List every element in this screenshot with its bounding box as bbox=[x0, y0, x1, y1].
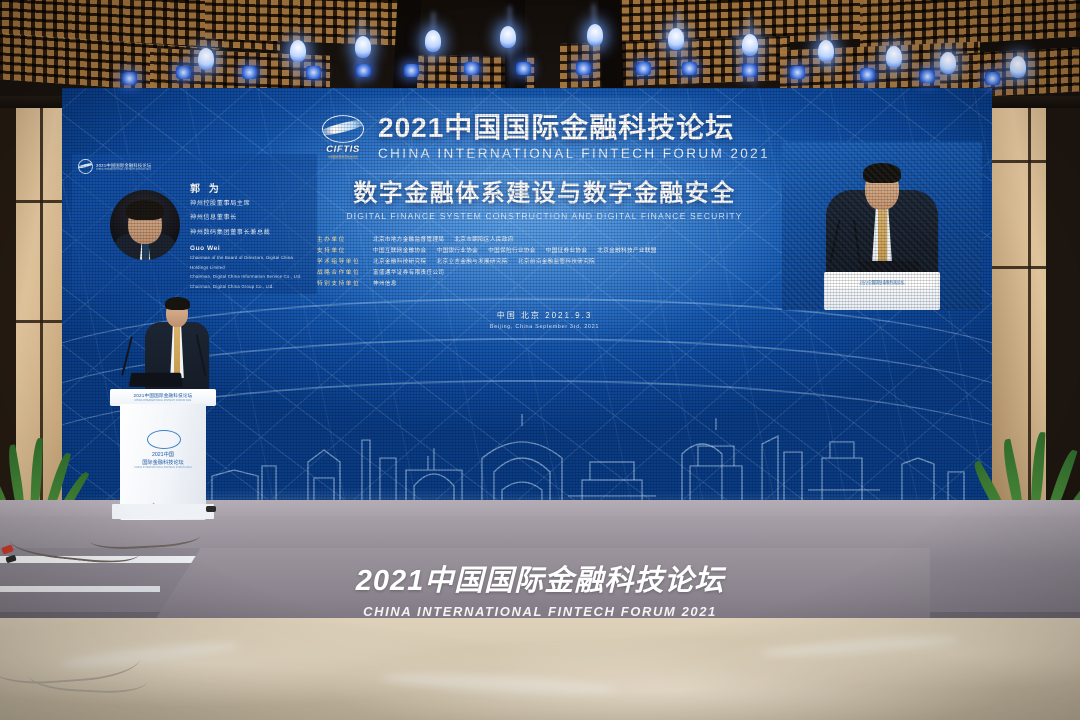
moving-head-light bbox=[587, 24, 603, 46]
feed-microphone bbox=[830, 220, 841, 261]
par-can-light bbox=[404, 64, 419, 77]
par-can-light bbox=[636, 62, 651, 75]
moving-head-light bbox=[500, 26, 516, 48]
organizer-value: 中国证券业协会 bbox=[546, 248, 588, 254]
speaker-name-en: Guo Wei bbox=[190, 245, 311, 252]
cable-connector bbox=[206, 506, 216, 512]
speaker-role-cn-1: 神州控股董事局主席 bbox=[190, 198, 311, 209]
speaker-role-en-2: Holdings Limited bbox=[190, 264, 311, 272]
organizer-list: 主办单位 北京市地方金融监督管理局北京市朝阳区人民政府 支持单位 中国互联网金融… bbox=[317, 235, 772, 290]
par-can-light bbox=[742, 64, 757, 77]
organizer-value: 北京前沿金融监管科技研究院 bbox=[518, 259, 595, 265]
banner-title-cn: 2021中国国际金融科技论坛 bbox=[356, 557, 725, 599]
organizer-values: 神州信息 bbox=[373, 279, 407, 290]
moving-head-light bbox=[290, 40, 306, 62]
par-can-light bbox=[860, 68, 875, 81]
organizer-label: 特别支持单位 bbox=[317, 279, 373, 290]
organizer-row: 主办单位 北京市地方金融监督管理局北京市朝阳区人民政府 bbox=[317, 235, 772, 246]
feed-microphone bbox=[853, 220, 861, 264]
ciftis-logo: CIFTIS 中国国际服务贸易交易会 bbox=[317, 112, 369, 162]
organizer-row: 学术指导单位 北京金融科技研究院北京立言金融与发展研究院北京前沿金融监管科技研究… bbox=[317, 257, 772, 268]
feed-podium-sign: 2021中国国际金融科技论坛 CHINA INTERNATIONAL FINTE… bbox=[830, 276, 934, 288]
par-can-light bbox=[920, 70, 935, 83]
venue-floor bbox=[0, 618, 1080, 720]
divider bbox=[317, 173, 772, 174]
feed-laptop bbox=[858, 261, 921, 274]
podium-front-en: CHINA INTERNATIONAL FINTECH FORUM 2021 bbox=[120, 466, 206, 469]
organizer-row: 战略合作单位 富盛通华证券有限责任公司 bbox=[317, 268, 772, 279]
par-can-light bbox=[306, 66, 321, 79]
podium-laptop bbox=[129, 373, 183, 387]
floor-vein bbox=[380, 670, 621, 699]
speaker-info-card: 2021中国国际金融科技论坛 CHINA INTERNATIONAL FINTE… bbox=[72, 154, 317, 294]
podium-base bbox=[112, 504, 214, 519]
organizer-value: 北京金融科技产业联盟 bbox=[597, 248, 656, 254]
organizer-label: 支持单位 bbox=[317, 246, 373, 257]
podium-ciftis-icon bbox=[147, 430, 181, 449]
conference-stage-photo: 2021中国国际金融科技论坛 CHINA INTERNATIONAL FINTE… bbox=[0, 0, 1080, 720]
podium-plate-cn: 2021中国国际金融科技论坛 bbox=[134, 393, 193, 399]
title-header: CIFTIS 中国国际服务贸易交易会 2021中国国际金融科技论坛 CHINA … bbox=[317, 112, 772, 162]
podium-front-cn-line1: 2021中国 bbox=[152, 452, 174, 458]
moving-head-light bbox=[355, 36, 371, 58]
organizer-value: 富盛通华证券有限责任公司 bbox=[373, 270, 444, 276]
organizer-row: 特别支持单位 神州信息 bbox=[317, 279, 772, 290]
par-can-light bbox=[122, 72, 137, 85]
banner-title-en: CHINA INTERNATIONAL FINTECH FORUM 2021 bbox=[363, 604, 717, 619]
speaker-role-cn-3: 神州数码集团董事长兼总裁 bbox=[190, 227, 311, 238]
organizer-label: 学术指导单位 bbox=[317, 257, 373, 268]
organizer-value: 中国保险行业协会 bbox=[488, 248, 536, 254]
stage-led-strip bbox=[0, 586, 160, 592]
organizer-label: 战略合作单位 bbox=[317, 268, 373, 279]
par-can-light bbox=[176, 66, 191, 79]
speaker-role-en-4: Chairman, Digital China Group Co., Ltd. bbox=[190, 283, 311, 291]
ciftis-icon bbox=[78, 159, 93, 174]
ceiling-beam bbox=[598, 0, 623, 94]
organizer-value: 北京立言金融与发展研究院 bbox=[437, 259, 508, 265]
par-can-light bbox=[464, 62, 479, 75]
speaker-role-cn-2: 神州信息董事长 bbox=[190, 212, 311, 223]
par-can-light bbox=[356, 64, 371, 77]
moving-head-light bbox=[668, 28, 684, 50]
event-when: 中国 北京 2021.9.3 Beijing, China September … bbox=[317, 310, 772, 330]
organizer-values: 中国互联网金融协会中国银行业协会中国保险行业协会中国证券业协会北京金融科技产业联… bbox=[373, 246, 667, 257]
speaker-portrait-avatar bbox=[110, 190, 180, 260]
card-badge: 2021中国国际金融科技论坛 CHINA INTERNATIONAL FINTE… bbox=[78, 159, 151, 174]
event-when-cn: 中国 北京 2021.9.3 bbox=[317, 310, 772, 321]
ceiling-lattice-panel bbox=[205, 0, 405, 45]
feed-speaker-lanyard bbox=[878, 208, 887, 270]
speaker-hair bbox=[165, 297, 190, 310]
organizer-label: 主办单位 bbox=[317, 235, 373, 246]
moving-head-light bbox=[940, 52, 956, 74]
speaker-name-cn: 郭 为 bbox=[190, 180, 311, 195]
moving-head-light bbox=[1010, 56, 1026, 78]
moving-head-light bbox=[886, 46, 902, 68]
speaker-lanyard bbox=[174, 326, 180, 376]
stage-front-banner: 2021中国国际金融科技论坛 CHINA INTERNATIONAL FINTE… bbox=[150, 548, 930, 628]
podium: 2021中国 国际金融科技论坛 CHINA INTERNATIONAL FINT… bbox=[120, 404, 206, 520]
podium-front-cn-line2: 国际金融科技论坛 bbox=[142, 460, 184, 466]
moving-head-light bbox=[198, 48, 214, 70]
avatar-tie bbox=[142, 242, 149, 260]
par-can-light bbox=[576, 62, 591, 75]
live-camera-feed: 2021中国国际金融科技论坛 CHINA INTERNATIONAL FINTE… bbox=[782, 142, 982, 310]
feed-podium-sign-cn: 2021中国国际金融科技论坛 bbox=[860, 279, 904, 284]
feed-speaker-head bbox=[865, 168, 899, 210]
speaker-details: 郭 为 神州控股董事局主席 神州信息董事长 神州数码集团董事长兼总裁 Guo W… bbox=[190, 180, 311, 290]
avatar-hair bbox=[126, 200, 164, 220]
forum-title-en: CHINA INTERNATIONAL FINTECH FORUM 2021 bbox=[378, 147, 770, 161]
ciftis-tagline-cn: 中国国际服务贸易交易会 bbox=[328, 156, 358, 160]
moving-head-light bbox=[818, 40, 834, 62]
organizer-value: 北京市朝阳区人民政府 bbox=[454, 237, 513, 243]
organizer-row: 支持单位 中国互联网金融协会中国银行业协会中国保险行业协会中国证券业协会北京金融… bbox=[317, 246, 772, 257]
forum-subtitle-en: DIGITAL FINANCE SYSTEM CONSTRUCTION AND … bbox=[317, 211, 772, 221]
speaker-role-en-3: Chairman, Digital China Information Serv… bbox=[190, 273, 311, 281]
floor-vein bbox=[760, 633, 960, 660]
par-can-light bbox=[790, 66, 805, 79]
forum-subtitle-cn: 数字金融体系建设与数字金融安全 bbox=[317, 182, 772, 206]
organizer-values: 富盛通华证券有限责任公司 bbox=[373, 268, 454, 279]
feed-speaker-hair bbox=[863, 163, 901, 183]
feed-speaker-shirt bbox=[865, 206, 899, 276]
screen-content: CIFTIS 中国国际服务贸易交易会 2021中国国际金融科技论坛 CHINA … bbox=[317, 112, 772, 330]
moving-head-light bbox=[742, 34, 758, 56]
moving-head-light bbox=[425, 30, 441, 52]
feed-podium bbox=[824, 272, 940, 310]
organizer-value: 北京市地方金融监督管理局 bbox=[373, 237, 444, 243]
par-can-light bbox=[242, 66, 257, 79]
forum-title-cn: 2021中国国际金融科技论坛 bbox=[378, 114, 770, 142]
podium-plate-en: CHINA INTERNATIONAL FINTECH FORUM 2021 bbox=[134, 399, 191, 402]
event-when-en: Beijing, China September 3rd, 2021 bbox=[317, 324, 772, 330]
organizer-value: 中国互联网金融协会 bbox=[373, 248, 427, 254]
card-badge-cn: 2021中国国际金融科技论坛 bbox=[96, 163, 151, 169]
organizer-value: 神州信息 bbox=[373, 281, 397, 287]
ciftis-globe-icon bbox=[322, 115, 364, 143]
feed-podium-sign-en: CHINA INTERNATIONAL FINTECH FORUM 2021 bbox=[859, 284, 905, 286]
par-can-light bbox=[682, 62, 697, 75]
feed-speaker-body bbox=[826, 190, 938, 276]
par-can-light bbox=[985, 72, 1000, 85]
organizer-values: 北京市地方金融监督管理局北京市朝阳区人民政府 bbox=[373, 235, 524, 246]
speaker-role-en-1: Chairman of the Board of Directors, Digi… bbox=[190, 254, 311, 262]
card-badge-en: CHINA INTERNATIONAL FINTECH FORUM 2021 bbox=[96, 169, 151, 171]
organizer-values: 北京金融科技研究院北京立言金融与发展研究院北京前沿金融监管科技研究院 bbox=[373, 257, 605, 268]
par-can-light bbox=[516, 62, 531, 75]
organizer-value: 北京金融科技研究院 bbox=[373, 259, 427, 265]
ciftis-wordmark: CIFTIS bbox=[326, 144, 360, 155]
organizer-value: 中国银行业协会 bbox=[437, 248, 479, 254]
